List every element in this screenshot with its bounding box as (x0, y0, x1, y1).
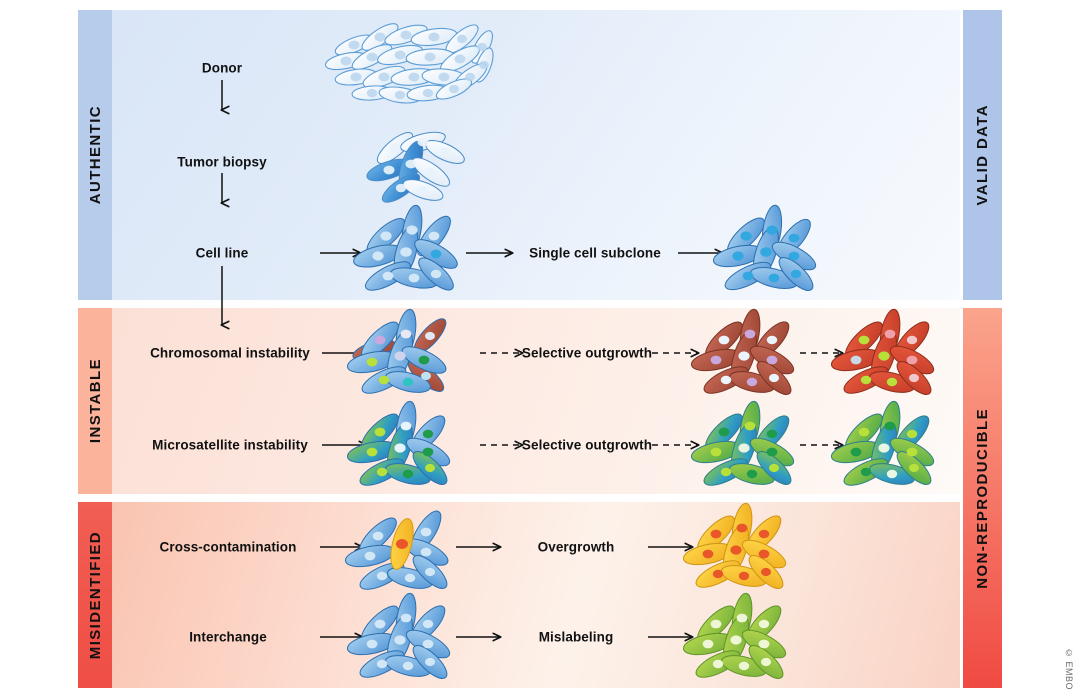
cluster-cross-contamination (344, 507, 452, 595)
cluster-subclone (712, 204, 820, 295)
step-label-donor: Donor (202, 61, 242, 76)
row-label-microsatellite-instability: Microsatellite instability (152, 438, 308, 453)
cluster-microsatellite-start (346, 400, 454, 491)
row-label-chromosomal-instability: Chromosomal instability (150, 346, 310, 361)
row-label-cross-contamination: Cross-contamination (160, 540, 297, 555)
cluster-chromosomal-end (830, 308, 938, 400)
cluster-cell-line (351, 204, 461, 296)
row-label-interchange: Interchange (189, 630, 267, 645)
row-outcome-mislabeling: Mislabeling (539, 630, 614, 645)
cluster-mislabeling (682, 592, 790, 684)
row-outcome-selective-outgrowth-1: Selective outgrowth (522, 346, 652, 361)
figure-canvas: AUTHENTIC INSTABLE MISIDENTIFIED VALID D… (0, 0, 1080, 698)
step-label-single-cell-subclone: Single cell subclone (529, 246, 661, 261)
cluster-donor-tissue (324, 19, 497, 105)
row-outcome-selective-outgrowth-2: Selective outgrowth (522, 438, 652, 453)
cluster-microsatellite-end (830, 400, 938, 491)
cluster-interchange (346, 592, 454, 684)
cluster-overgrowth (682, 502, 790, 594)
cluster-microsatellite-mid (690, 400, 798, 491)
cluster-chromosomal-mid (690, 308, 798, 400)
cluster-tumor-biopsy (364, 128, 467, 207)
step-label-cell-line: Cell line (196, 246, 249, 261)
step-label-tumor-biopsy: Tumor biopsy (177, 155, 266, 170)
cluster-chromosomal-start (346, 308, 451, 399)
row-outcome-overgrowth: Overgrowth (538, 540, 615, 555)
copyright-credit: © EMBO (1064, 648, 1074, 690)
